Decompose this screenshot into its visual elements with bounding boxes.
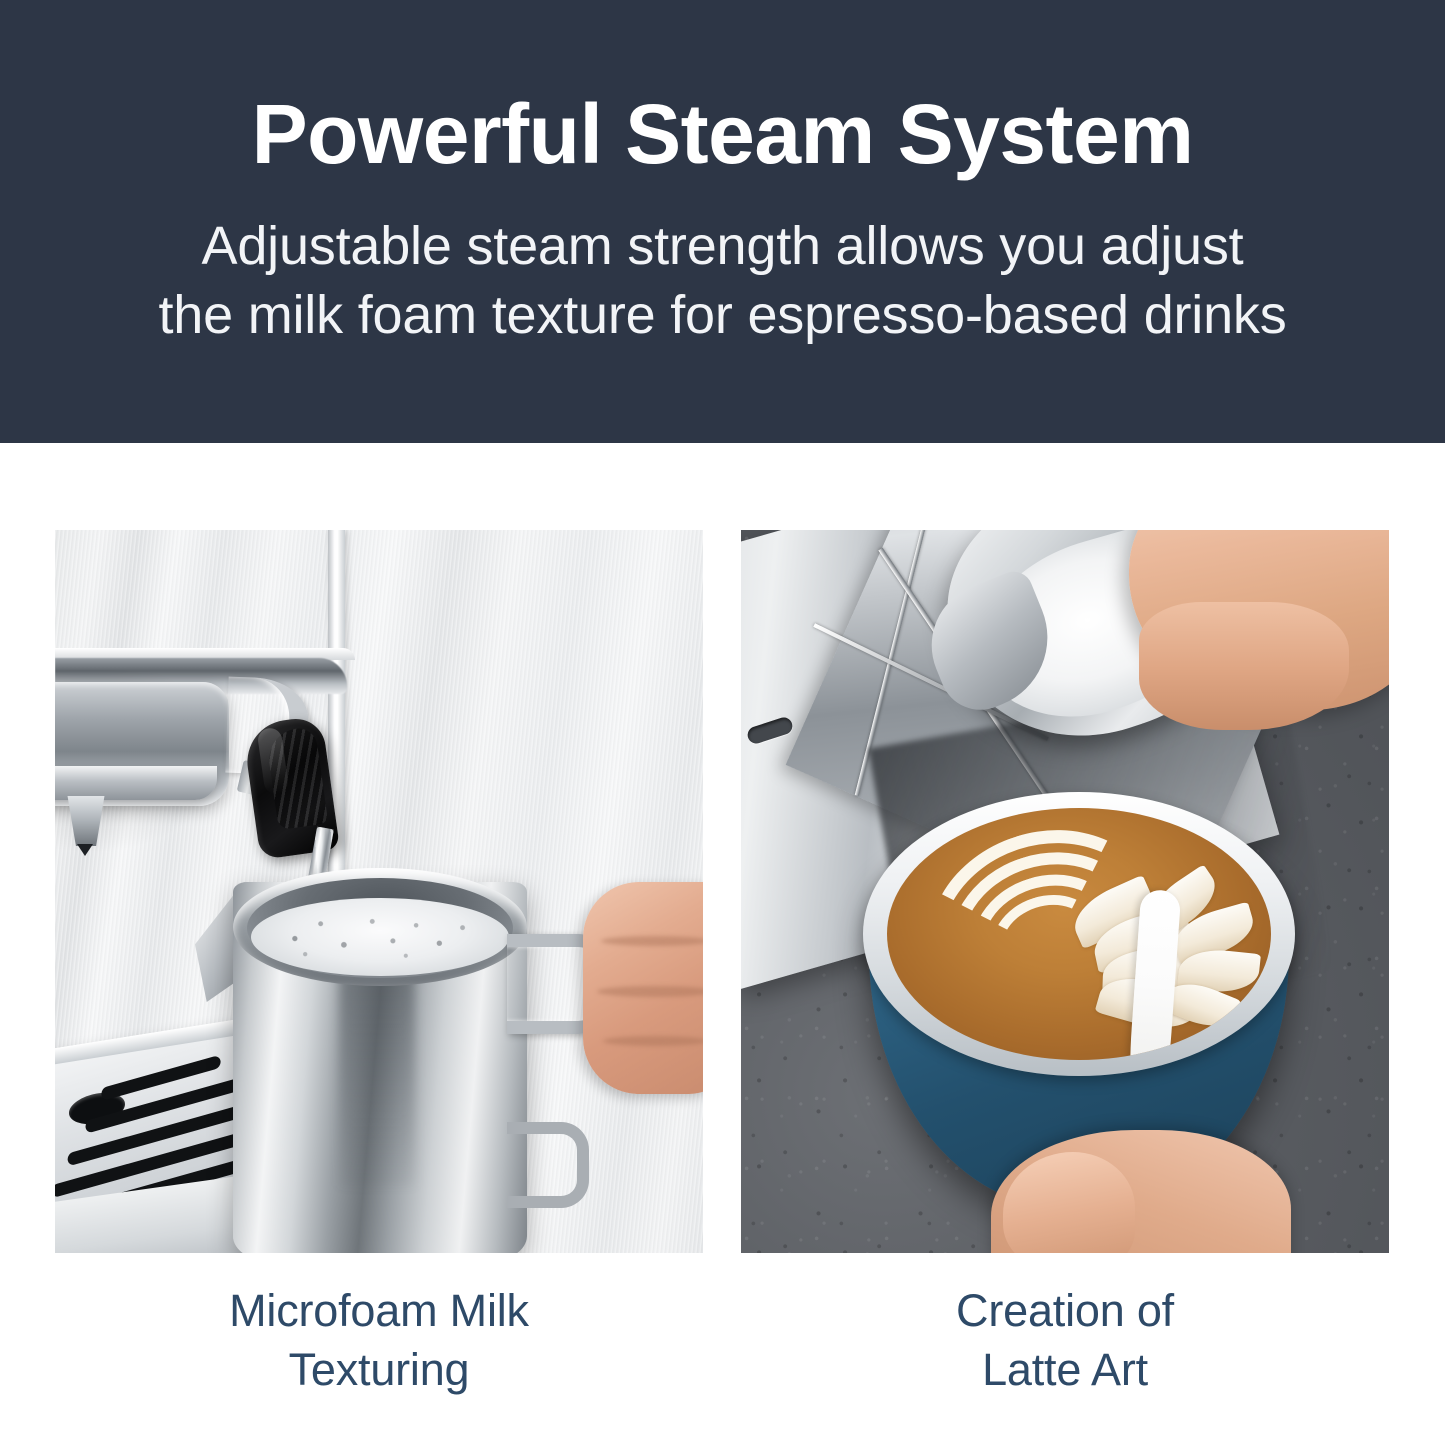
hand-pouring-fingers (1139, 602, 1349, 730)
caption-creation-of-latte-art: Creation of Latte Art (741, 1282, 1389, 1399)
feature-image-grid (55, 530, 1390, 1253)
caption-line-1: Creation of (741, 1282, 1389, 1341)
header-banner: Powerful Steam System Adjustable steam s… (0, 0, 1445, 443)
header-subtitle: Adjustable steam strength allows you adj… (158, 176, 1286, 350)
portafilter-ring (55, 766, 217, 800)
hand-holding-pitcher (583, 882, 703, 1094)
subtitle-line-1: Adjustable steam strength allows you adj… (158, 212, 1286, 281)
caption-row: Microfoam Milk Texturing Creation of Lat… (55, 1282, 1390, 1399)
finger-crease (601, 936, 703, 946)
caption-microfoam-milk-texturing: Microfoam Milk Texturing (55, 1282, 703, 1399)
product-feature-page: Powerful Steam System Adjustable steam s… (0, 0, 1445, 1445)
latte-art-rosetta (887, 808, 1271, 1060)
subtitle-line-2: the milk foam texture for espresso-based… (158, 281, 1286, 350)
finger-crease (597, 986, 703, 997)
finger-crease (603, 1036, 703, 1046)
microfoam-bubbles (251, 898, 509, 976)
caption-line-1: Microfoam Milk (55, 1282, 703, 1341)
milk-pitcher-handle-lower (507, 1122, 589, 1208)
caption-line-2: Latte Art (741, 1341, 1389, 1400)
photo-microfoam-milk-texturing (55, 530, 703, 1253)
photo-creation-of-latte-art (741, 530, 1389, 1253)
page-title: Powerful Steam System (252, 92, 1194, 176)
caption-line-2: Texturing (55, 1341, 703, 1400)
